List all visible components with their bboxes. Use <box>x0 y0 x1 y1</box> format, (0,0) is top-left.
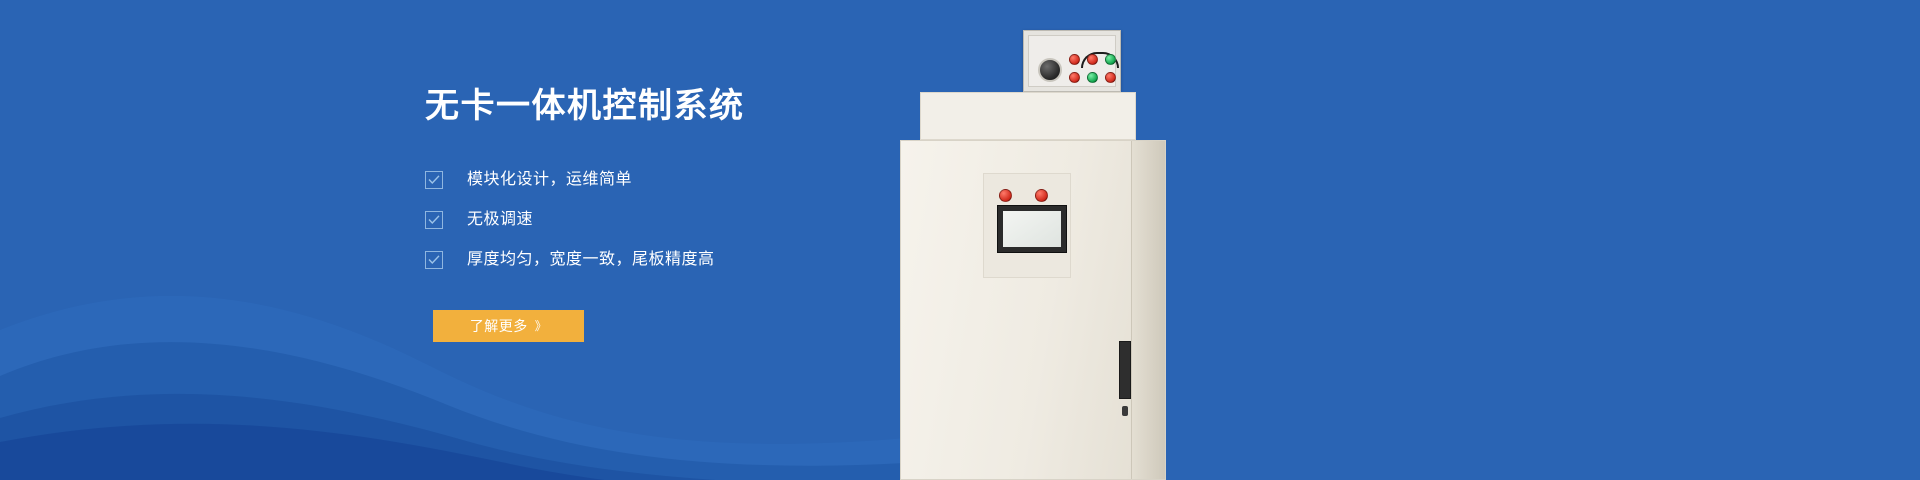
learn-more-label: 了解更多 <box>470 316 528 336</box>
feature-list: 模块化设计，运维简单 无极调速 厚度均匀，宽度一致，尾板精度高 <box>425 169 945 271</box>
checkbox-checked-icon <box>425 171 443 189</box>
feature-label: 厚度均匀，宽度一致，尾板精度高 <box>467 250 715 270</box>
list-item: 模块化设计，运维简单 <box>425 169 945 191</box>
cabinet-top-cap <box>920 92 1136 140</box>
door-lock-icon <box>1122 406 1128 416</box>
door-handle <box>1119 341 1131 399</box>
list-item: 厚度均匀，宽度一致，尾板精度高 <box>425 249 945 271</box>
rotary-knob-icon <box>1038 58 1062 82</box>
control-panel-box <box>1023 30 1121 92</box>
checkbox-checked-icon <box>425 211 443 229</box>
hmi-screen-surface <box>1003 211 1061 247</box>
indicator-lamp-red <box>1105 72 1116 83</box>
indicator-lamp-red <box>1087 54 1098 65</box>
chevron-right-icon: 》 <box>535 317 548 334</box>
hero-content: 无卡一体机控制系统 模块化设计，运维简单 无极调速 <box>425 86 945 342</box>
learn-more-button[interactable]: 了解更多 》 <box>433 310 584 342</box>
checkbox-checked-icon <box>425 251 443 269</box>
feature-label: 无极调速 <box>467 210 533 230</box>
indicator-lamp-red <box>999 189 1012 202</box>
list-item: 无极调速 <box>425 209 945 231</box>
indicator-lamp-green <box>1105 54 1116 65</box>
indicator-lamp-red <box>1069 54 1080 65</box>
indicator-lamp-red <box>1035 189 1048 202</box>
page-title: 无卡一体机控制系统 <box>425 86 945 127</box>
indicator-lamp-red <box>1069 72 1080 83</box>
control-panel-face <box>1028 35 1116 87</box>
hmi-touchscreen <box>997 205 1067 253</box>
feature-label: 模块化设计，运维简单 <box>467 170 632 190</box>
cabinet-side-panel <box>1131 141 1165 479</box>
hero-banner: 无卡一体机控制系统 模块化设计，运维简单 无极调速 <box>0 0 1920 480</box>
indicator-lamp-green <box>1087 72 1098 83</box>
